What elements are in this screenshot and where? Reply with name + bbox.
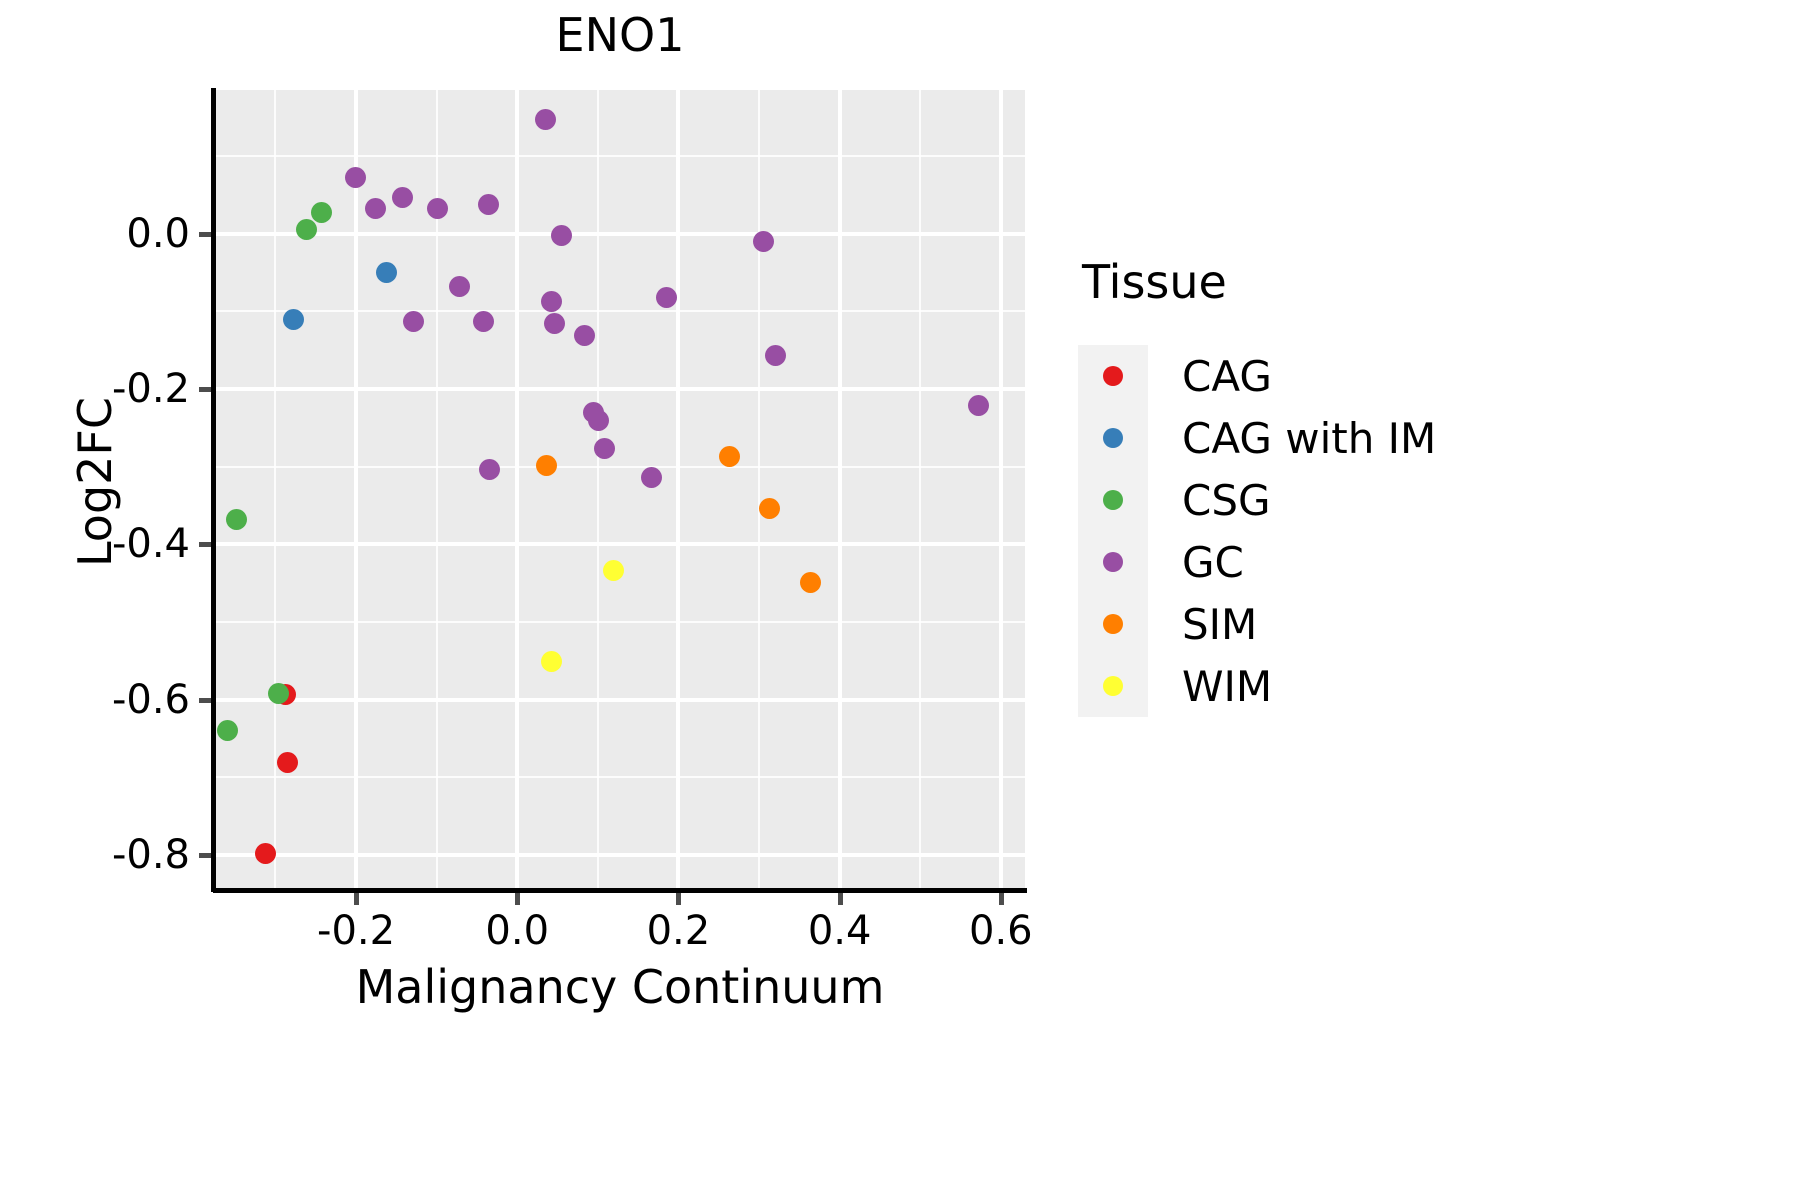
legend-swatch <box>1078 531 1148 593</box>
data-point-gc <box>535 109 556 130</box>
data-point-gc <box>641 467 662 488</box>
legend-swatch <box>1078 345 1148 407</box>
data-point-csg <box>268 683 289 704</box>
legend-title: Tissue <box>1082 255 1678 309</box>
y-tick-mark <box>199 232 211 237</box>
chart-title: ENO1 <box>0 8 1240 62</box>
x-tick-label: -0.2 <box>317 908 395 954</box>
x-tick-mark <box>676 893 681 905</box>
data-point-gc <box>345 167 366 188</box>
data-point-gc <box>968 395 989 416</box>
data-point-gc <box>478 194 499 215</box>
gridline-minor-vertical <box>919 90 921 890</box>
data-point-cag <box>255 843 276 864</box>
gridline-major-vertical <box>999 90 1003 890</box>
data-point-gc <box>392 187 413 208</box>
x-tick-mark <box>354 893 359 905</box>
y-tick-mark <box>199 387 211 392</box>
gridline-major-horizontal <box>215 387 1025 391</box>
data-point-gc <box>765 345 786 366</box>
data-point-gc <box>449 276 470 297</box>
y-axis-title: Log2FC <box>68 82 122 882</box>
legend-swatch <box>1078 469 1148 531</box>
legend-dot-icon <box>1103 614 1123 634</box>
data-point-wim <box>603 560 624 581</box>
legend-item-cag-with-im[interactable]: CAG with IM <box>1078 407 1678 469</box>
y-tick-mark <box>199 853 211 858</box>
gridline-major-horizontal <box>215 232 1025 236</box>
x-tick-mark <box>515 893 520 905</box>
x-tick-mark <box>999 893 1004 905</box>
legend-dot-icon <box>1103 366 1123 386</box>
legend-dot-icon <box>1103 490 1123 510</box>
gridline-minor-vertical <box>597 90 599 890</box>
legend-dot-icon <box>1103 552 1123 572</box>
data-point-sim <box>759 498 780 519</box>
gridline-minor-horizontal <box>215 776 1025 778</box>
legend-swatch <box>1078 407 1148 469</box>
x-tick-label: 0.2 <box>647 908 711 954</box>
data-point-gc <box>574 325 595 346</box>
data-point-gc <box>427 198 448 219</box>
legend-label: SIM <box>1182 600 1257 649</box>
data-point-gc <box>403 311 424 332</box>
data-point-cag-with-im <box>376 262 397 283</box>
data-point-csg <box>311 202 332 223</box>
x-tick-label: 0.6 <box>969 908 1033 954</box>
data-point-gc <box>541 291 562 312</box>
data-point-csg <box>296 219 317 240</box>
legend-items: CAGCAG with IMCSGGCSIMWIM <box>1078 345 1678 717</box>
gridline-major-vertical <box>354 90 358 890</box>
data-point-gc <box>473 311 494 332</box>
legend-swatch <box>1078 593 1148 655</box>
gridline-minor-horizontal <box>215 621 1025 623</box>
legend-label: CAG with IM <box>1182 414 1436 463</box>
data-point-cag-with-im <box>283 309 304 330</box>
gridline-major-vertical <box>838 90 842 890</box>
data-point-gc <box>656 287 677 308</box>
chart-root: ENO1 0.0-0.2-0.4-0.6-0.8 -0.20.00.20.40.… <box>0 0 1800 1200</box>
legend-label: CSG <box>1182 476 1271 525</box>
gridline-minor-horizontal <box>215 310 1025 312</box>
data-point-gc <box>588 410 609 431</box>
legend-label: WIM <box>1182 662 1272 711</box>
gridline-major-horizontal <box>215 542 1025 546</box>
data-point-cag <box>277 752 298 773</box>
y-tick-mark <box>199 542 211 547</box>
gridline-major-vertical <box>515 90 519 890</box>
data-point-sim <box>800 572 821 593</box>
gridline-minor-horizontal <box>215 466 1025 468</box>
legend-swatch <box>1078 655 1148 717</box>
legend-item-gc[interactable]: GC <box>1078 531 1678 593</box>
gridline-major-horizontal <box>215 853 1025 857</box>
data-point-csg <box>226 509 247 530</box>
gridline-major-horizontal <box>215 698 1025 702</box>
x-tick-label: 0.0 <box>485 908 549 954</box>
data-point-gc <box>551 225 572 246</box>
legend-item-csg[interactable]: CSG <box>1078 469 1678 531</box>
legend-dot-icon <box>1103 428 1123 448</box>
x-tick-label: 0.4 <box>808 908 872 954</box>
legend-item-cag[interactable]: CAG <box>1078 345 1678 407</box>
legend-label: GC <box>1182 538 1244 587</box>
data-point-gc <box>365 198 386 219</box>
data-point-gc <box>479 459 500 480</box>
x-axis-title: Malignancy Continuum <box>215 960 1025 1014</box>
legend-item-sim[interactable]: SIM <box>1078 593 1678 655</box>
plot-panel <box>215 90 1025 890</box>
gridline-major-vertical <box>676 90 680 890</box>
data-point-sim <box>536 455 557 476</box>
y-tick-mark <box>199 698 211 703</box>
data-point-gc <box>544 313 565 334</box>
data-point-gc <box>594 438 615 459</box>
y-axis-line <box>211 88 216 892</box>
data-point-wim <box>541 651 562 672</box>
gridline-minor-vertical <box>274 90 276 890</box>
x-tick-mark <box>838 893 843 905</box>
gridline-minor-vertical <box>758 90 760 890</box>
data-point-sim <box>719 446 740 467</box>
legend-label: CAG <box>1182 352 1272 401</box>
legend-dot-icon <box>1103 676 1123 696</box>
data-point-gc <box>753 231 774 252</box>
data-point-csg <box>217 720 238 741</box>
legend-item-wim[interactable]: WIM <box>1078 655 1678 717</box>
gridline-minor-horizontal <box>215 155 1025 157</box>
legend: Tissue CAGCAG with IMCSGGCSIMWIM <box>1078 255 1678 717</box>
x-axis-line <box>213 888 1027 893</box>
